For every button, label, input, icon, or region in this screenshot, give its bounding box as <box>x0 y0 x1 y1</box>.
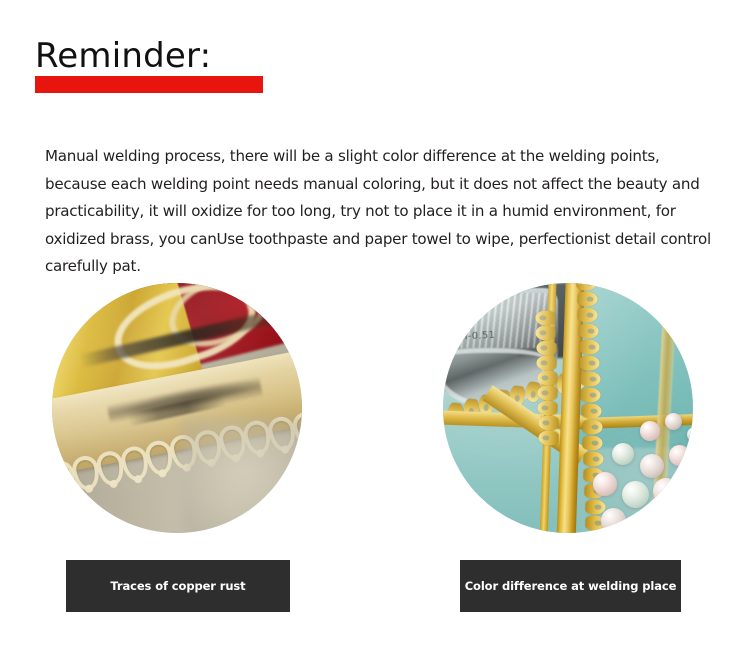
title-underline-bar <box>35 76 263 93</box>
photo-color-difference: 5ml-0.51 <box>443 283 693 533</box>
photo-color-difference-art: 5ml-0.51 <box>443 283 693 533</box>
photo-copper-rust <box>52 283 302 533</box>
photo-sheen <box>52 283 302 533</box>
reminder-body-text: Manual welding process, there will be a … <box>45 143 711 281</box>
figure-color-difference: 5ml-0.51 Color difference at welding pla… <box>443 283 693 613</box>
page-title-block: Reminder: <box>35 36 435 76</box>
figure-caption-copper-rust: Traces of copper rust <box>66 560 290 612</box>
reminder-page: Reminder: Manual welding process, there … <box>0 0 750 669</box>
photo-sheen <box>443 283 693 533</box>
page-title: Reminder: <box>35 36 435 76</box>
figure-caption-color-difference: Color difference at welding place <box>460 560 681 612</box>
figure-copper-rust: Traces of copper rust <box>43 283 293 613</box>
photo-copper-rust-art <box>52 283 302 533</box>
figures-row: Traces of copper rust 5ml-0.51 <box>0 283 750 623</box>
